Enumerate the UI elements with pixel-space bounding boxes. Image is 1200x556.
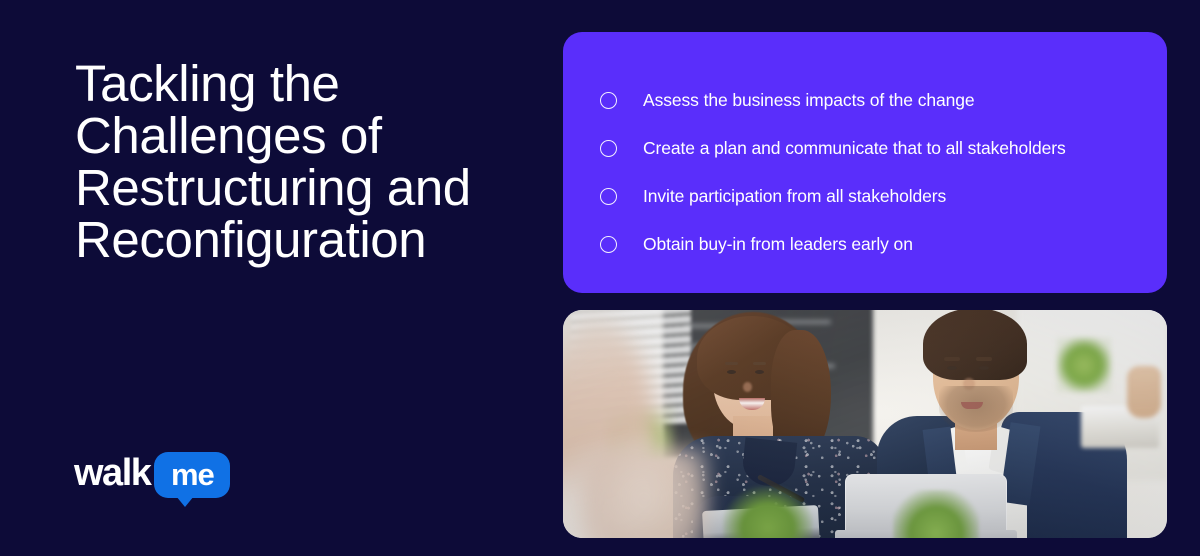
photo-card [563,310,1167,538]
page-title: Tackling the Challenges of Restructuring… [75,58,535,266]
checklist-card: Assess the business impacts of the chang… [563,32,1167,293]
logo-bubble-text: me [171,459,214,490]
list-item-label: Assess the business impacts of the chang… [643,89,975,111]
left-column: Tackling the Challenges of Restructuring… [0,0,560,556]
list-item: Invite participation from all stakeholde… [600,172,1147,220]
circle-outline-icon [600,92,617,109]
foreground-blur-decor [579,448,709,538]
plant-decor [723,486,813,538]
list-item-label: Create a plan and communicate that to al… [643,137,1066,159]
list-item: Assess the business impacts of the chang… [600,76,1147,124]
circle-outline-icon [600,236,617,253]
circle-outline-icon [600,188,617,205]
slide-canvas: Tackling the Challenges of Restructuring… [0,0,1200,556]
walkme-logo: walk me [74,452,230,498]
circle-outline-icon [600,140,617,157]
list-item: Create a plan and communicate that to al… [600,124,1147,172]
checklist: Assess the business impacts of the chang… [600,76,1147,268]
list-item: Obtain buy-in from leaders early on [600,220,1147,268]
list-item-label: Invite participation from all stakeholde… [643,185,946,207]
plant-decor [893,490,979,538]
office-photo [563,310,1167,538]
background-person-decor [1127,366,1161,418]
speech-bubble-icon: me [154,452,230,498]
logo-wordmark: walk [74,454,150,492]
list-item-label: Obtain buy-in from leaders early on [643,233,913,255]
